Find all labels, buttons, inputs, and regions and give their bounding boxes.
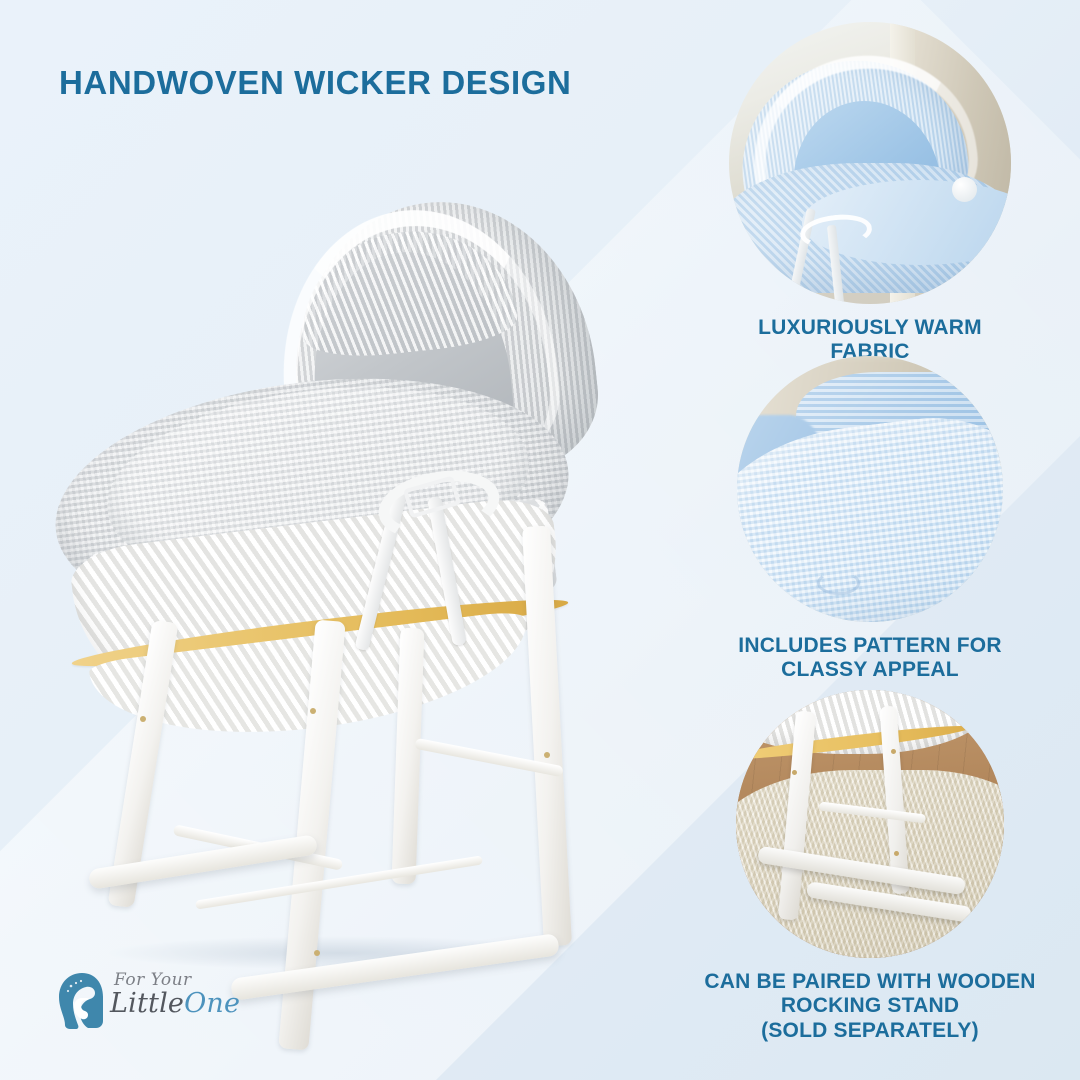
page-title: HANDWOVEN WICKER DESIGN xyxy=(59,64,571,102)
feature-list: LUXURIOUSLY WARM FABRIC INCLUDES PATTERN… xyxy=(660,0,1080,1080)
brand-logo: For Your LittleOne xyxy=(52,966,232,1040)
stand-screw xyxy=(314,950,320,956)
feature-photo-waffle-texture xyxy=(737,356,1003,622)
feature-item-pattern: INCLUDES PATTERN FOR CLASSY APPEAL xyxy=(660,356,1080,683)
feature-photo-rocking-stand xyxy=(736,690,1004,958)
stand-screw xyxy=(140,716,146,722)
infographic-canvas: HANDWOVEN WICKER DESIGN xyxy=(0,0,1080,1080)
stand-screw xyxy=(544,752,550,758)
logo-word-little: Little xyxy=(110,988,184,1019)
feature-caption-pattern: INCLUDES PATTERN FOR CLASSY APPEAL xyxy=(660,634,1080,683)
feature-item-fabric: LUXURIOUSLY WARM FABRIC xyxy=(660,22,1080,365)
mother-and-baby-silhouette-icon xyxy=(52,970,108,1032)
stand-leg-back-right xyxy=(522,526,572,947)
feature-photo-blue-waffle-basket xyxy=(729,22,1011,304)
feature-caption-stand: CAN BE PAIRED WITH WOODEN ROCKING STAND … xyxy=(660,970,1080,1043)
logo-word-one: One xyxy=(184,988,240,1019)
stand-screw xyxy=(310,708,316,714)
feature-item-stand: CAN BE PAIRED WITH WOODEN ROCKING STAND … xyxy=(660,690,1080,1043)
logo-line-2: LittleOne xyxy=(110,988,240,1019)
logo-line-1: For Your xyxy=(114,970,192,990)
hero-product-image xyxy=(44,196,644,986)
